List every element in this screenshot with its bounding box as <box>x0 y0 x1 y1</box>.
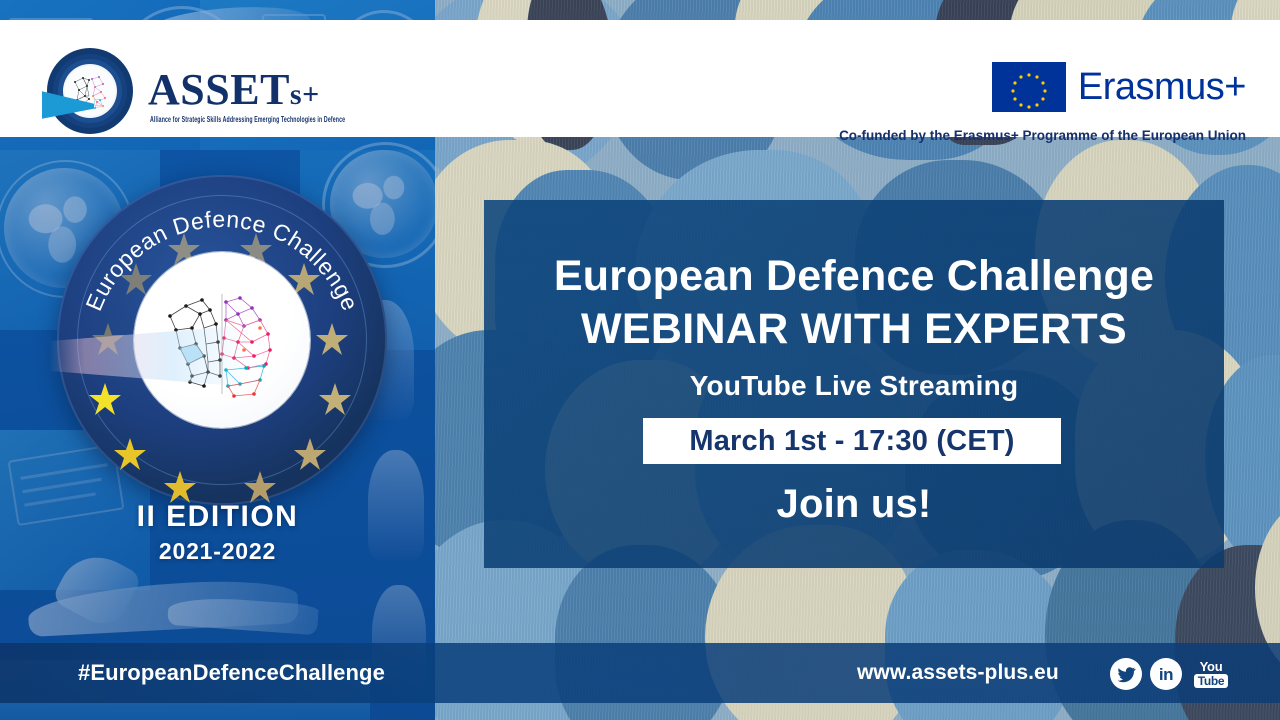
assets-plus-wordmark: ASSETs+ <box>148 68 320 112</box>
event-platform: YouTube Live Streaming <box>484 370 1224 402</box>
erasmus-plus-logo: Erasmus+ <box>992 62 1246 112</box>
badge-brain-network-icon <box>134 252 310 428</box>
eu-star <box>92 323 124 355</box>
youtube-label-top: You <box>1200 661 1223 673</box>
edition-number: II EDITION <box>0 500 435 534</box>
edition-block: II EDITION 2021-2022 <box>0 500 435 565</box>
erasmus-wordmark: Erasmus+ <box>1078 66 1246 109</box>
assets-tagline: Alliance for Strategic Skills Addressing… <box>150 116 345 125</box>
assets-word-main: ASSET <box>148 65 290 114</box>
eu-star <box>294 438 326 470</box>
cofunded-statement: Co-funded by the Erasmus+ Programme of t… <box>839 128 1246 143</box>
call-to-action: Join us! <box>484 482 1224 527</box>
twitter-icon[interactable] <box>1110 658 1142 690</box>
event-poster: ASSETs+ Alliance for Strategic Skills Ad… <box>0 0 1280 720</box>
assets-plus-logo <box>44 48 140 136</box>
website-url[interactable]: www.assets-plus.eu <box>857 661 1059 685</box>
assets-word-s: s <box>290 78 302 111</box>
eu-flag-icon <box>992 62 1066 112</box>
main-message-panel: European Defence Challenge WEBINAR WITH … <box>484 200 1224 568</box>
linkedin-icon[interactable]: in <box>1150 658 1182 690</box>
eu-star <box>89 383 121 415</box>
event-datetime: March 1st - 17:30 (CET) <box>689 425 1014 458</box>
event-title-line2: WEBINAR WITH EXPERTS <box>484 305 1224 354</box>
social-links: in You Tube <box>1110 657 1232 691</box>
linkedin-label: in <box>1159 666 1173 683</box>
event-title-line1: European Defence Challenge <box>484 252 1224 301</box>
eu-star <box>316 323 348 355</box>
footer-bar: #EuropeanDefenceChallenge www.assets-plu… <box>0 643 1280 703</box>
assets-word-plus: + <box>302 78 320 111</box>
eu-star <box>120 263 152 295</box>
eu-star <box>319 383 351 415</box>
eu-star <box>164 471 196 503</box>
youtube-label-bottom: Tube <box>1194 674 1229 688</box>
header-bar: ASSETs+ Alliance for Strategic Skills Ad… <box>0 20 1280 137</box>
event-datetime-box: March 1st - 17:30 (CET) <box>643 418 1061 464</box>
eu-star <box>114 438 146 470</box>
youtube-icon[interactable]: You Tube <box>1190 657 1232 691</box>
eu-star <box>244 471 276 503</box>
european-defence-challenge-badge: European Defence Challenge <box>57 175 387 505</box>
edition-years: 2021-2022 <box>0 538 435 565</box>
hashtag-label: #EuropeanDefenceChallenge <box>78 660 385 686</box>
